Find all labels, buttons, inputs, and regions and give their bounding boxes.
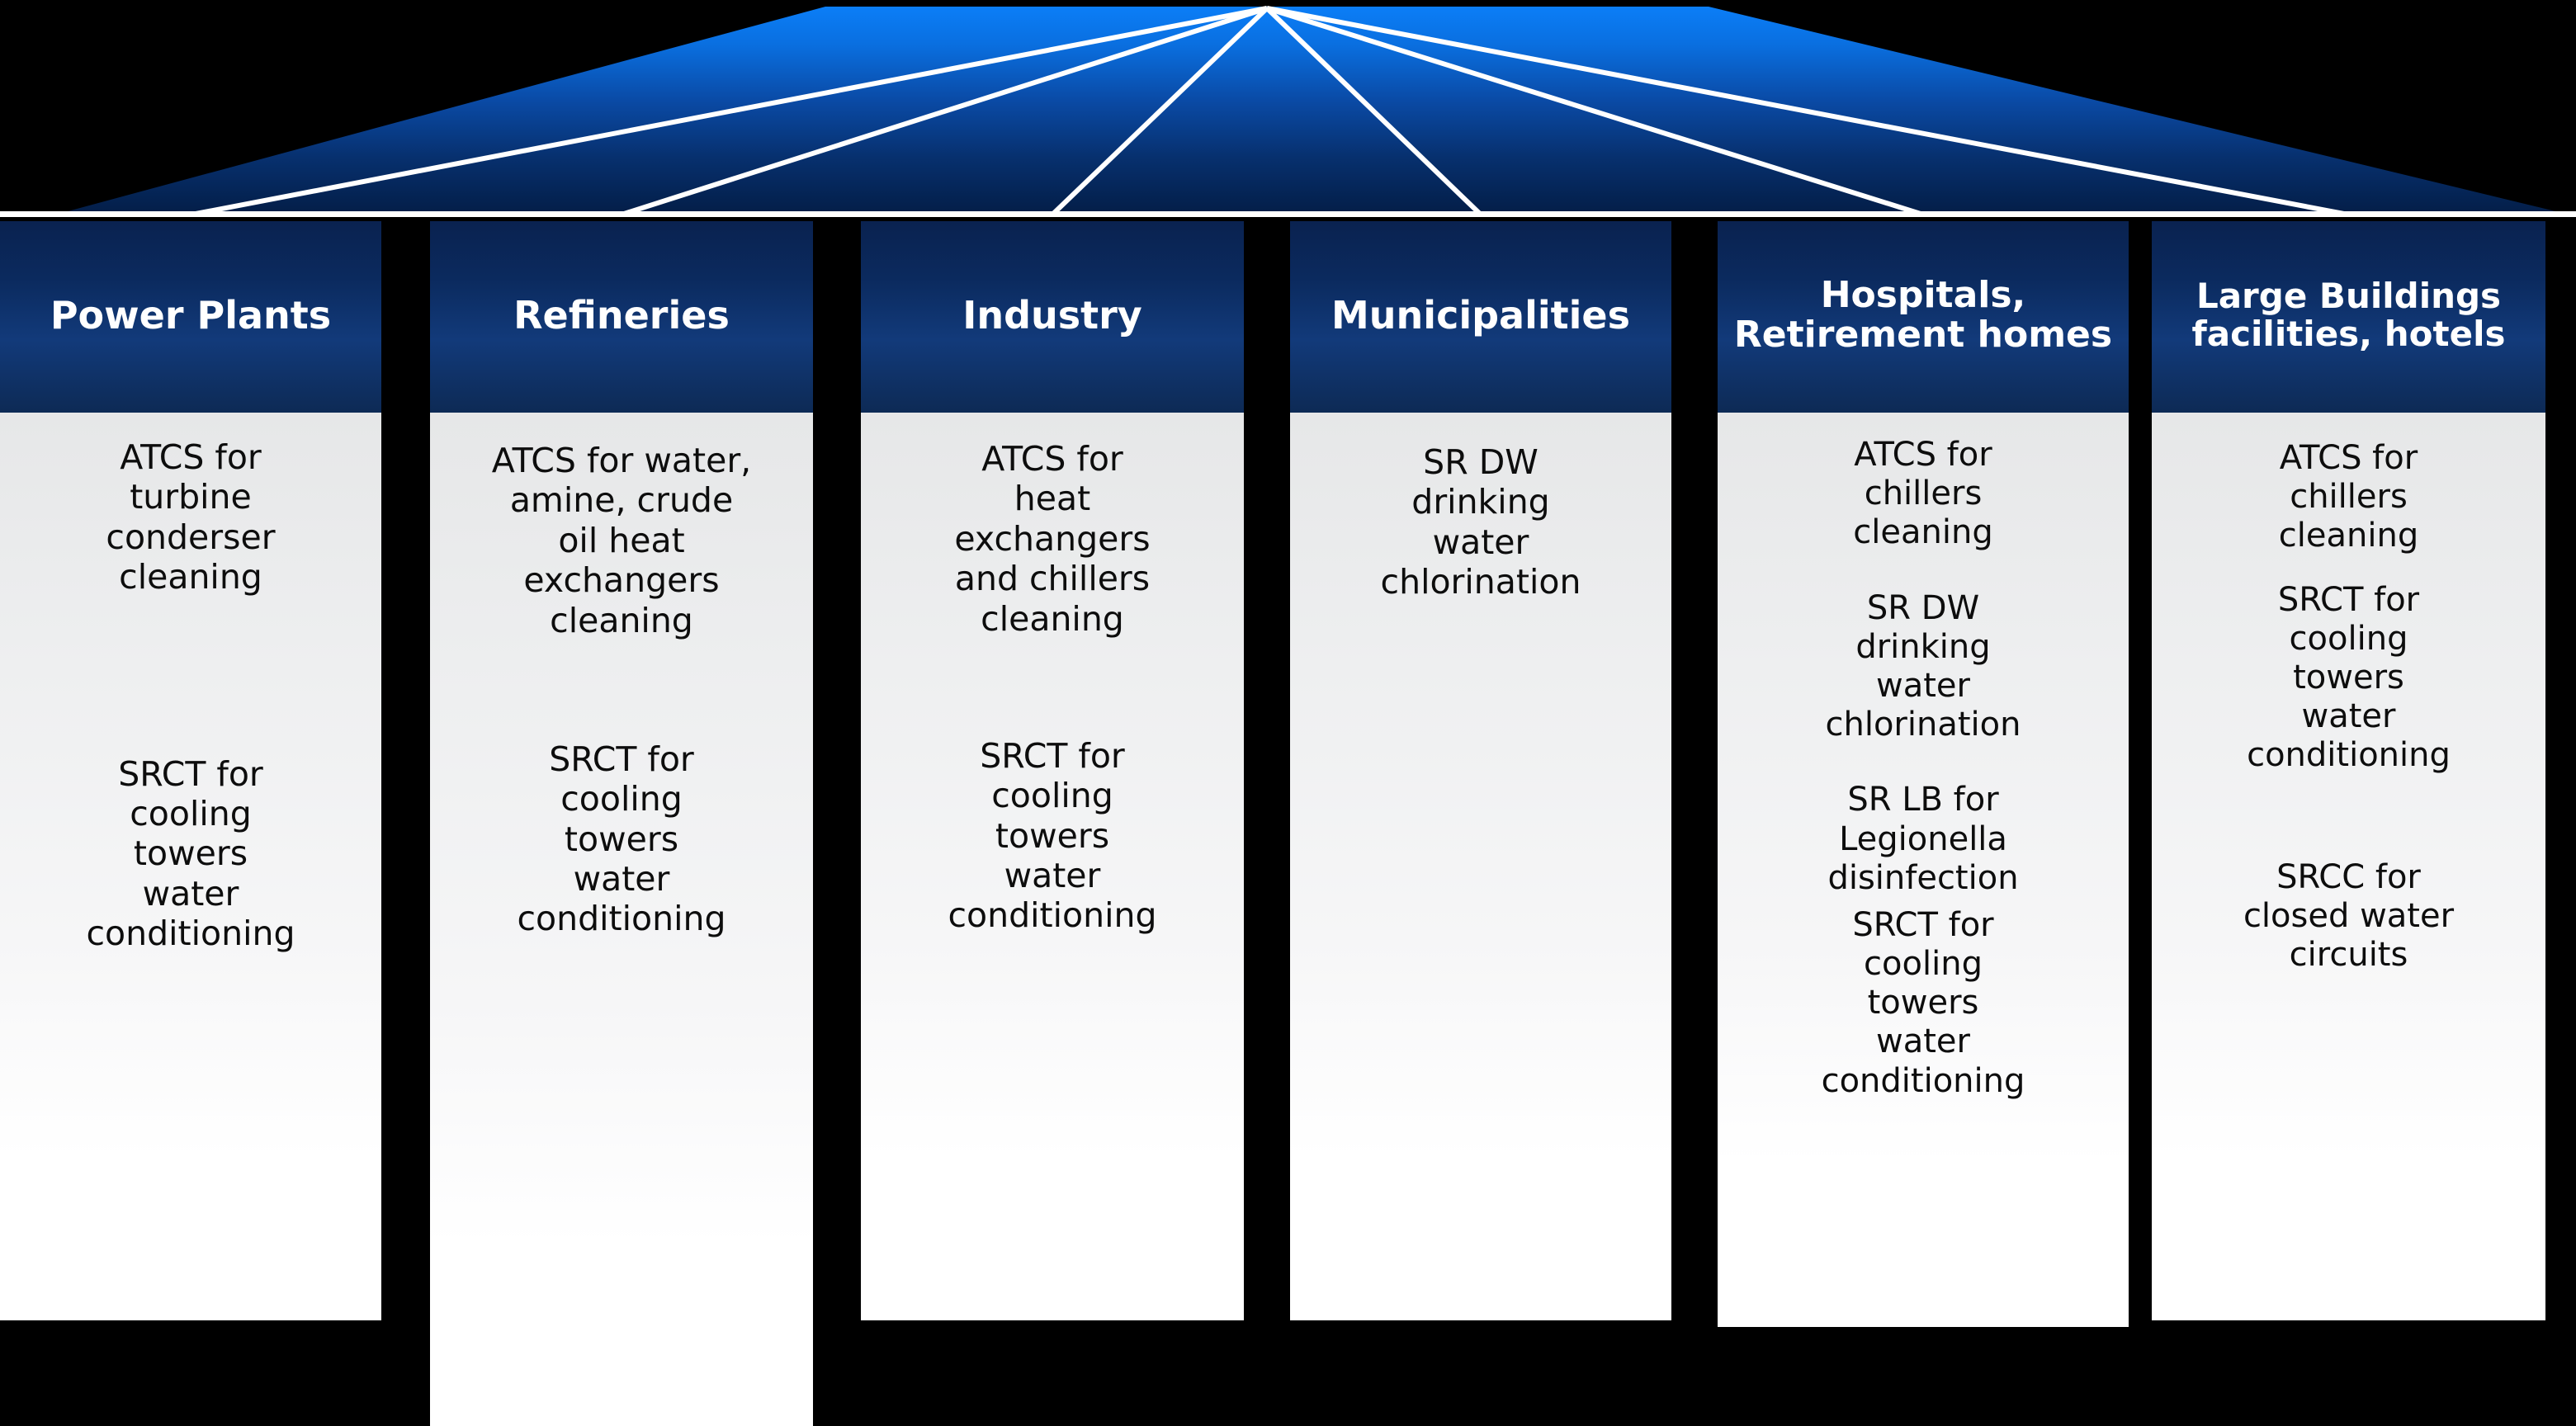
text-block: SRCT for cooling towers water conditioni…: [437, 739, 806, 939]
column-header-hospitals-retirement-homes: Hospitals, Retirement homes: [1718, 221, 2129, 413]
block-gap: [867, 639, 1237, 736]
text-block: ATCS for water, amine, crude oil heat ex…: [437, 441, 806, 640]
column-refineries[interactable]: Refineries ATCS for water, amine, crude …: [430, 221, 813, 1426]
text-block: ATCS for chillers cleaning: [2158, 439, 2539, 556]
diagram-canvas: Power Plants ATCS for turbine conderser …: [0, 0, 2576, 1426]
column-body-industry: ATCS for heat exchangers and chillers cl…: [861, 413, 1244, 1320]
column-header-municipalities: Municipalities: [1290, 221, 1671, 413]
block-gap: [2158, 776, 2539, 858]
text-block: SRCT for cooling towers water conditioni…: [867, 736, 1237, 936]
column-body-large-buildings: ATCS for chillers cleaning SRCT for cool…: [2152, 413, 2545, 1320]
text-block: SRCC for closed water circuits: [2158, 858, 2539, 975]
column-hospitals-retirement-homes[interactable]: Hospitals, Retirement homes ATCS for chi…: [1718, 221, 2129, 1327]
column-header-industry: Industry: [861, 221, 1244, 413]
fan-roof: [0, 0, 2576, 221]
text-block: SR DW drinking water chlorination: [1297, 442, 1665, 602]
block-gap: [2158, 556, 2539, 581]
column-large-buildings[interactable]: Large Buildings facilities, hotels ATCS …: [2152, 221, 2545, 1320]
text-block: ATCS for turbine conderser cleaning: [7, 437, 375, 597]
column-body-power-plants: ATCS for turbine conderser cleaning SRCT…: [0, 413, 381, 1320]
block-gap: [1724, 553, 2122, 589]
column-body-hospitals-retirement-homes: ATCS for chillers cleaning SR DW drinkin…: [1718, 413, 2129, 1327]
text-block: SRCT for cooling towers water conditioni…: [1724, 906, 2122, 1101]
text-block: SR DW drinking water chlorination: [1724, 589, 2122, 745]
column-header-refineries: Refineries: [430, 221, 813, 413]
text-block: SR LB for Legionella disinfection: [1724, 781, 2122, 898]
column-body-municipalities: SR DW drinking water chlorination: [1290, 413, 1671, 1320]
text-block: SRCT for cooling towers water conditioni…: [2158, 581, 2539, 776]
block-gap: [7, 597, 375, 754]
block-gap: [1724, 898, 2122, 906]
text-block: ATCS for heat exchangers and chillers cl…: [867, 439, 1237, 639]
column-municipalities[interactable]: Municipalities SR DW drinking water chlo…: [1290, 221, 1671, 1320]
block-gap: [437, 640, 806, 739]
text-block: ATCS for chillers cleaning: [1724, 436, 2122, 553]
column-power-plants[interactable]: Power Plants ATCS for turbine conderser …: [0, 221, 381, 1320]
block-gap: [1724, 744, 2122, 781]
text-block: SRCT for cooling towers water conditioni…: [7, 754, 375, 954]
roof-baseline: [0, 211, 2576, 217]
column-header-large-buildings: Large Buildings facilities, hotels: [2152, 221, 2545, 413]
fan-roof-svg: [0, 0, 2576, 221]
column-industry[interactable]: Industry ATCS for heat exchangers and ch…: [861, 221, 1244, 1320]
column-header-power-plants: Power Plants: [0, 221, 381, 413]
column-body-refineries: ATCS for water, amine, crude oil heat ex…: [430, 413, 813, 1426]
